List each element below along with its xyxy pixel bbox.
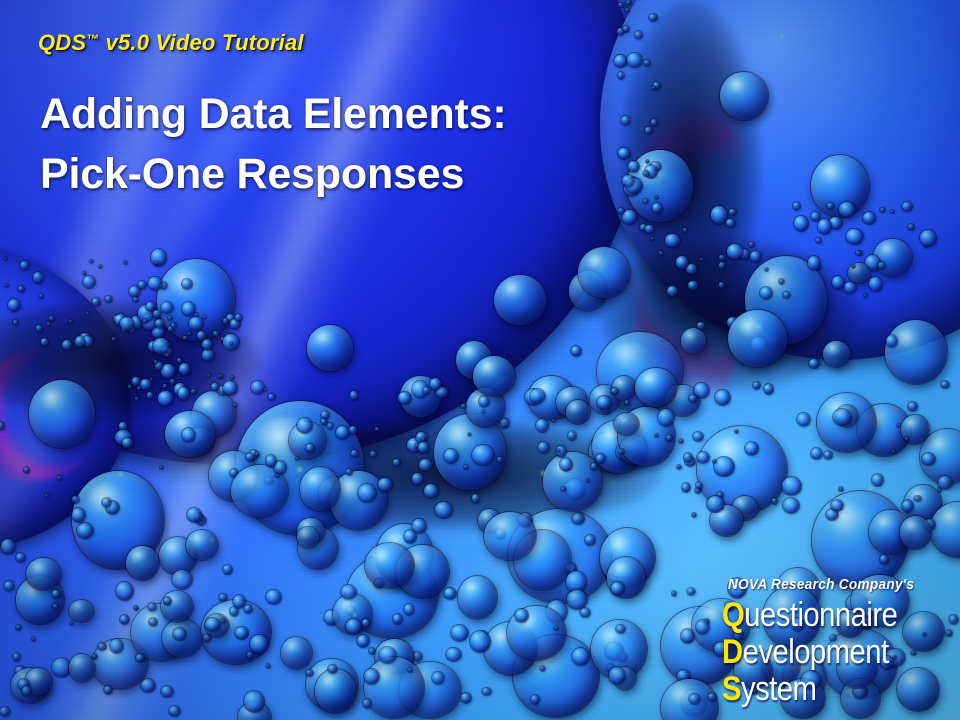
title-line-1: Adding Data Elements:: [40, 84, 660, 144]
logo-line-system: System: [722, 671, 904, 708]
tutorial-kicker: QDS™ v5.0 Video Tutorial: [38, 30, 304, 56]
logo-cap-q: Q: [722, 596, 744, 634]
logo-cap-s: S: [722, 670, 741, 708]
qds-logo: NOVA Research Company's Questionnaire De…: [722, 577, 934, 708]
trademark-symbol: ™: [86, 31, 99, 46]
title-line-2: Pick-One Responses: [40, 144, 660, 204]
page-title: Adding Data Elements: Pick-One Responses: [40, 84, 660, 204]
slide-content: QDS™ v5.0 Video Tutorial Adding Data Ele…: [0, 0, 960, 720]
logo-word-development: evelopment: [743, 633, 889, 671]
logo-word-questionnaire: uestionnaire: [744, 596, 897, 634]
logo-company-name: NOVA Research Company's: [728, 577, 922, 593]
logo-cap-d: D: [722, 633, 743, 671]
logo-line-questionnaire: Questionnaire: [722, 597, 904, 634]
logo-line-development: Development: [722, 634, 904, 671]
logo-word-system: ystem: [741, 670, 816, 708]
kicker-product: QDS: [38, 30, 86, 55]
title-slide: QDS™ v5.0 Video Tutorial Adding Data Ele…: [0, 0, 960, 720]
kicker-rest: v5.0 Video Tutorial: [99, 30, 304, 55]
